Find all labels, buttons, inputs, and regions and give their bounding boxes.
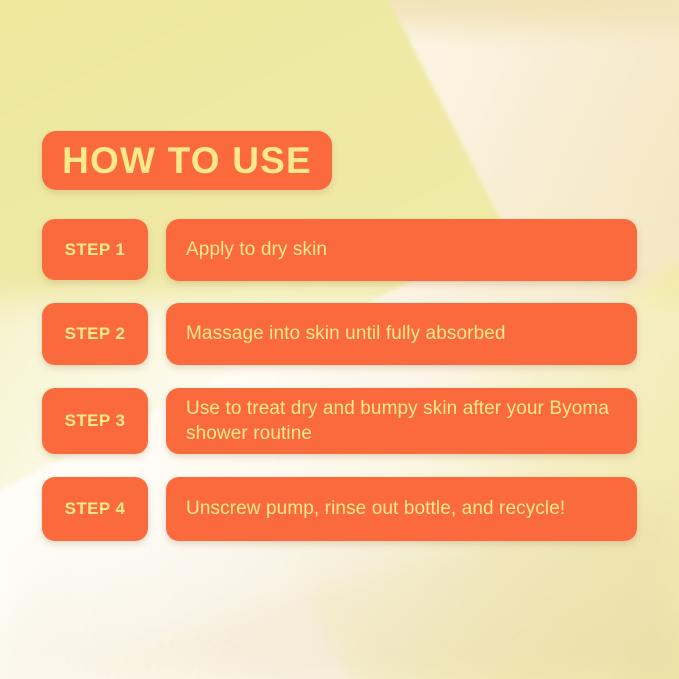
steps-list: STEP 1 Apply to dry skin STEP 2 Massage … [42, 219, 637, 541]
step-description-3: Use to treat dry and bumpy skin after yo… [186, 396, 617, 446]
page-title-chip: HOW TO USE [42, 131, 332, 190]
step-number-label-1: STEP 1 [65, 240, 126, 260]
page-title: HOW TO USE [62, 142, 312, 179]
step-description-2: Massage into skin until fully absorbed [186, 321, 506, 346]
step-number-label-4: STEP 4 [65, 499, 126, 519]
step-number-label-2: STEP 2 [65, 324, 126, 344]
step-row: STEP 4 Unscrew pump, rinse out bottle, a… [42, 477, 637, 541]
step-row: STEP 2 Massage into skin until fully abs… [42, 303, 637, 365]
step-description-4: Unscrew pump, rinse out bottle, and recy… [186, 496, 565, 521]
step-description-chip-2: Massage into skin until fully absorbed [166, 303, 637, 365]
step-description-chip-4: Unscrew pump, rinse out bottle, and recy… [166, 477, 637, 541]
product-instructions-graphic: HOW TO USE STEP 1 Apply to dry skin STEP… [0, 0, 679, 679]
step-number-label-3: STEP 3 [65, 411, 126, 431]
step-description-chip-3: Use to treat dry and bumpy skin after yo… [166, 388, 637, 454]
step-number-chip-1: STEP 1 [42, 219, 148, 280]
step-description-1: Apply to dry skin [186, 237, 327, 262]
content-layer: HOW TO USE STEP 1 Apply to dry skin STEP… [0, 0, 679, 679]
step-number-chip-2: STEP 2 [42, 303, 148, 365]
step-row: STEP 3 Use to treat dry and bumpy skin a… [42, 388, 637, 454]
step-number-chip-3: STEP 3 [42, 388, 148, 454]
step-row: STEP 1 Apply to dry skin [42, 219, 637, 280]
step-description-chip-1: Apply to dry skin [166, 219, 637, 281]
step-number-chip-4: STEP 4 [42, 477, 148, 541]
